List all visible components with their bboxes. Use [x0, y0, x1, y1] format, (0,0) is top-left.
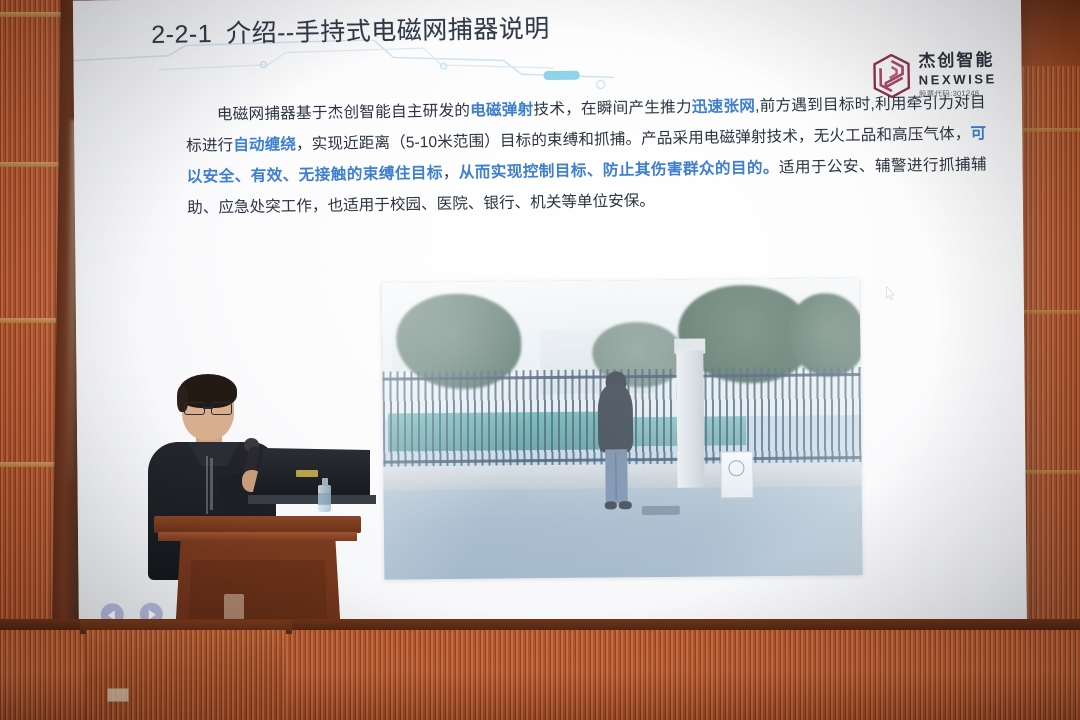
wall-plate: [107, 688, 129, 702]
body-segment-9: 从而实现控制目标、防止其伤害群众的目的。: [459, 160, 779, 182]
body-segment-6: ，实现近距离（5-10米范围）目标的束缚和抓捕。产品采用电磁弹射技术，无火工品和…: [296, 126, 971, 154]
water-bottle: [318, 478, 331, 512]
speaker-shirt-placket: [210, 458, 213, 510]
slide-title: 2-2-1介绍--手持式电磁网捕器说明: [151, 9, 550, 51]
chevron-right-icon: [149, 609, 156, 619]
slide-title-text: 介绍--手持式电磁网捕器说明: [226, 15, 550, 48]
body-segment-1: 电磁弹射: [470, 101, 534, 119]
bottle-label: [318, 493, 331, 505]
slide-photo: [382, 278, 863, 580]
brand-name-en: NEXWISE: [919, 73, 997, 87]
body-segment-3: 迅速张网: [692, 98, 756, 116]
podium-top: [154, 516, 361, 533]
speaker-shirt-stripe: [206, 456, 208, 514]
slide-title-number: 2-2-1: [151, 20, 212, 49]
stage-table-front: [86, 630, 286, 720]
body-segment-5: 自动缠绕: [233, 136, 296, 154]
bottle-cap: [322, 478, 328, 486]
body-segment-0: 电磁网捕器基于杰创智能自主研发的: [217, 102, 471, 123]
speaker-glasses-icon: [184, 402, 232, 413]
mouse-cursor-icon: [886, 286, 895, 301]
laptop-base: [248, 495, 376, 504]
body-segment-8: ，: [443, 165, 459, 182]
laptop-badge: [296, 470, 318, 477]
slide-body-text: 电磁网捕器基于杰创智能自主研发的电磁弹射技术，在瞬间产生推力迅速张网,前方遇到目…: [185, 87, 987, 224]
brand-name-cn: 杰创智能: [918, 52, 996, 70]
presentation-photo: 2-2-1介绍--手持式电磁网捕器说明 杰创智能 NEXWISE 股票代码:30…: [0, 0, 1080, 720]
photo-projector-washout: [382, 278, 863, 580]
laptop[interactable]: [252, 448, 372, 506]
podium-lip: [158, 532, 357, 541]
body-segment-2: 技术，在瞬间产生推力: [533, 99, 692, 118]
